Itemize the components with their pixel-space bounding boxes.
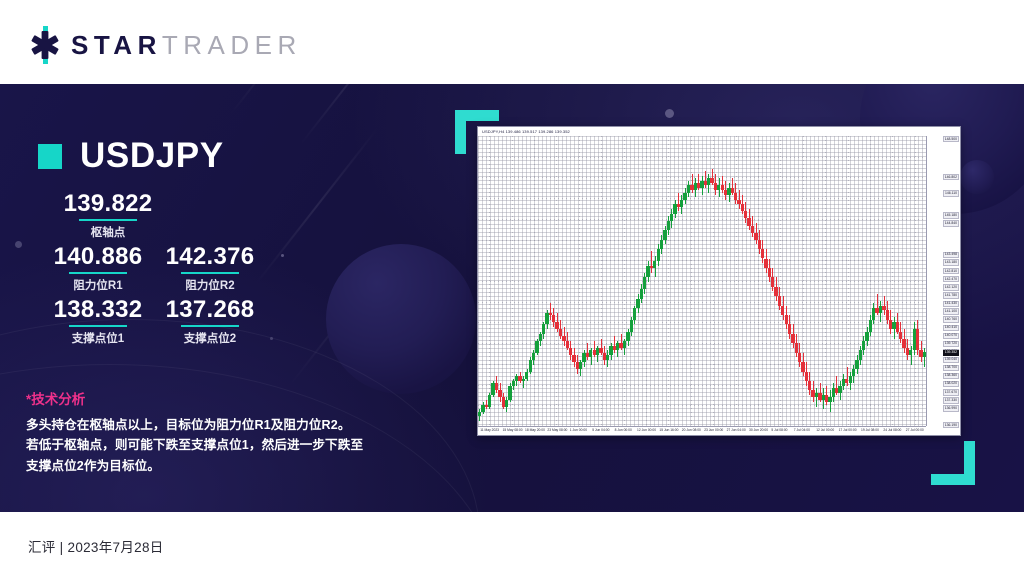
- price-axis-tick: 143.180: [943, 259, 959, 265]
- time-axis-tick: 5 Jul 08:00: [771, 429, 787, 432]
- time-axis-tick: 23 May 08:00: [547, 429, 567, 432]
- analysis-line: 多头持仓在枢轴点以上，目标位为阻力位R1及阻力位R2。: [26, 415, 406, 435]
- time-axis-tick: 7 Jul 04:00: [794, 429, 810, 432]
- analysis-heading: *技术分析: [26, 388, 406, 408]
- brand-logo: STARTRADER: [28, 28, 302, 62]
- time-axis-tick: 15 May 08:00: [503, 429, 523, 432]
- price-axis-tick: 144.840: [943, 220, 959, 226]
- time-axis-tick: 12 Jun 00:00: [637, 429, 656, 432]
- price-axis-tick: 143.498: [943, 252, 959, 258]
- trading-chart-window[interactable]: USDJPY,H4 139.486 139.517 139.286 139.35…: [477, 126, 961, 436]
- price-axis-tick: 140.760: [943, 316, 959, 322]
- time-axis-tick: 23 Jun 00:00: [704, 429, 723, 432]
- info-panel: USDJPY 139.822 枢轴点 140.886 阻力位R1 142.376…: [0, 84, 450, 512]
- level-pivot: 139.822 枢轴点: [46, 191, 170, 240]
- current-price-tag: 139.352: [943, 350, 959, 356]
- chart-plot-area[interactable]: [478, 136, 926, 426]
- level-resistance-1: 140.886 阻力位R1: [36, 244, 160, 293]
- time-axis-tick: 17 Jul 00:00: [839, 429, 857, 432]
- candlestick-series: [478, 136, 926, 426]
- brand-name-light: TRADER: [162, 30, 302, 60]
- footer-caption: 汇评 | 2023年7月28日: [28, 536, 164, 556]
- time-axis-tick: 18 May 20:00: [525, 429, 545, 432]
- level-underline: [79, 219, 137, 221]
- chart-time-axis: 11 May 202315 May 08:0018 May 20:0023 Ma…: [478, 426, 926, 435]
- level-underline: [181, 325, 239, 327]
- main-stage: USDJPY 139.822 枢轴点 140.886 阻力位R1 142.376…: [0, 84, 1024, 512]
- price-axis-tick: 138.360: [943, 373, 959, 379]
- time-axis-tick: 27 Jul 00:00: [906, 429, 924, 432]
- price-axis-tick: 140.410: [943, 325, 959, 331]
- price-axis-tick: 146.802: [943, 174, 959, 180]
- time-axis-tick: 12 Jul 00:00: [816, 429, 834, 432]
- analysis-line: 若低于枢轴点，则可能下跌至支撑点位1，然后进一步下跌至: [26, 435, 406, 455]
- page-footer: 汇评 | 2023年7月28日: [0, 512, 1024, 576]
- price-axis-tick: 148.500: [943, 136, 959, 142]
- level-label: 枢轴点: [46, 224, 170, 240]
- price-axis-tick: 145.180: [943, 212, 959, 218]
- level-underline: [69, 325, 127, 327]
- level-value: 140.886: [36, 244, 160, 269]
- level-underline: [69, 272, 127, 274]
- level-support-1: 138.332 支撑点位1: [36, 297, 160, 346]
- time-axis-tick: 1 Jun 00:00: [570, 429, 587, 432]
- brand-name-bold: STAR: [71, 30, 162, 60]
- level-label: 阻力位R2: [148, 277, 272, 293]
- level-label: 支撑点位1: [36, 330, 160, 346]
- page-title: USDJPY: [80, 136, 224, 176]
- star-asterisk-icon: [28, 28, 62, 62]
- chart-area: USDJPY,H4 139.486 139.517 139.286 139.35…: [455, 110, 975, 485]
- time-axis-tick: 24 Jul 08:00: [883, 429, 901, 432]
- logo-accent-square-bottom: [43, 59, 48, 64]
- price-axis-tick: 142.810: [943, 268, 959, 274]
- level-label: 支撑点位2: [148, 330, 272, 346]
- level-value: 142.376: [148, 244, 272, 269]
- price-axis-tick: 141.430: [943, 301, 959, 307]
- chart-titlebar: USDJPY,H4 139.486 139.517 139.286 139.35…: [478, 127, 960, 136]
- logo-accent-square-top: [43, 26, 48, 31]
- level-underline: [181, 272, 239, 274]
- time-axis-tick: 30 Jun 20:00: [749, 429, 768, 432]
- price-axis-tick: 136.190: [943, 422, 959, 428]
- price-axis-tick: 137.670: [943, 389, 959, 395]
- level-support-2: 137.268 支撑点位2: [148, 297, 272, 346]
- time-axis-tick: 15 Jun 16:00: [659, 429, 678, 432]
- price-axis-tick: 146.110: [943, 190, 959, 196]
- price-axis-tick: 140.070: [943, 333, 959, 339]
- price-axis-tick: 142.120: [943, 284, 959, 290]
- level-label: 阻力位R1: [36, 277, 160, 293]
- price-axis-tick: 138.020: [943, 381, 959, 387]
- level-value: 138.332: [36, 297, 160, 322]
- analysis-line: 支撑点位2作为目标位。: [26, 456, 406, 476]
- technical-analysis-block: *技术分析 多头持仓在枢轴点以上，目标位为阻力位R1及阻力位R2。 若低于枢轴点…: [26, 388, 406, 476]
- price-axis-tick: 137.330: [943, 397, 959, 403]
- time-axis-tick: 5 Jun 04:00: [592, 429, 609, 432]
- price-axis-tick: 141.780: [943, 292, 959, 298]
- price-axis-tick: 141.100: [943, 308, 959, 314]
- instrument-title-row: USDJPY: [38, 136, 224, 176]
- time-axis-tick: 27 Jun 04:00: [727, 429, 746, 432]
- price-axis-tick: 139.040: [943, 357, 959, 363]
- brand-name: STARTRADER: [71, 30, 302, 61]
- level-value: 139.822: [46, 191, 170, 216]
- corner-bracket-bottom-right: [931, 441, 975, 485]
- time-axis-tick: 19 Jul 08:00: [861, 429, 879, 432]
- time-axis-tick: 20 Jun 08:00: [682, 429, 701, 432]
- time-axis-tick: 8 Jun 00:00: [615, 429, 632, 432]
- level-value: 137.268: [148, 297, 272, 322]
- page-header: STARTRADER: [0, 0, 1024, 84]
- analysis-body: 多头持仓在枢轴点以上，目标位为阻力位R1及阻力位R2。 若低于枢轴点，则可能下跌…: [26, 415, 406, 476]
- title-accent-chip: [38, 144, 62, 169]
- price-axis-tick: 139.720: [943, 341, 959, 347]
- level-resistance-2: 142.376 阻力位R2: [148, 244, 272, 293]
- chart-price-axis: 148.500146.802146.110145.180144.840143.4…: [926, 136, 960, 426]
- price-axis-tick: 142.470: [943, 276, 959, 282]
- price-axis-tick: 138.700: [943, 365, 959, 371]
- time-axis-tick: 11 May 2023: [480, 429, 499, 432]
- price-axis-tick: 136.990: [943, 405, 959, 411]
